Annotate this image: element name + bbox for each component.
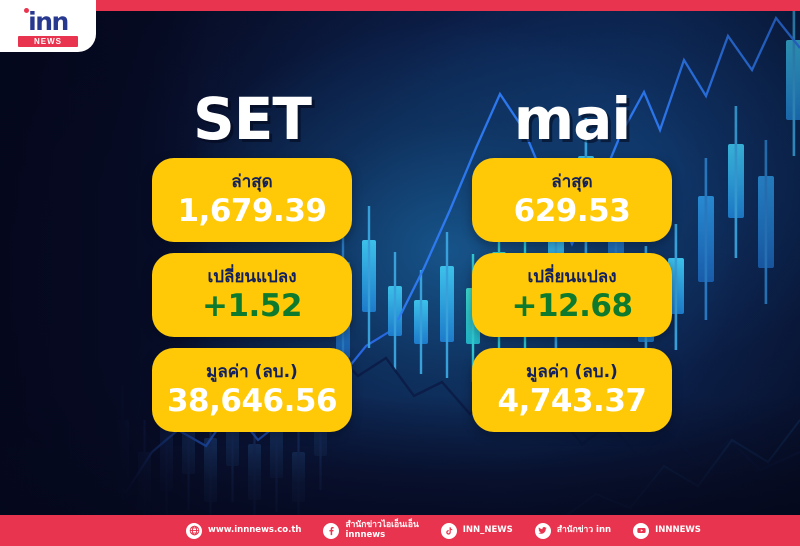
tiktok-icon bbox=[441, 523, 457, 539]
logo-news-badge: NEWS bbox=[18, 36, 78, 47]
index-title-set: SET bbox=[146, 88, 358, 150]
facebook-icon bbox=[323, 523, 339, 539]
footer-item-label-line2: innnews bbox=[345, 531, 418, 541]
footer-item-twitter[interactable]: สำนักข่าว inn bbox=[535, 523, 611, 539]
index-column-mai: mai ล่าสุด 629.53 เปลี่ยนแปลง +12.68 มูล… bbox=[466, 88, 678, 443]
card-label: เปลี่ยนแปลง bbox=[527, 266, 616, 288]
card-value: 4,743.37 bbox=[498, 383, 647, 419]
card-label: เปลี่ยนแปลง bbox=[207, 266, 296, 288]
card-label: ล่าสุด bbox=[231, 171, 272, 193]
footer-item-label: INNNEWS bbox=[655, 526, 701, 536]
inn-news-logo: inn NEWS bbox=[0, 0, 96, 52]
card-mai-last: ล่าสุด 629.53 bbox=[472, 158, 672, 242]
youtube-icon bbox=[633, 523, 649, 539]
background-vignette bbox=[0, 0, 800, 546]
card-value: 629.53 bbox=[514, 193, 631, 229]
card-value: +1.52 bbox=[202, 288, 302, 324]
top-red-bar bbox=[0, 0, 800, 11]
globe-icon bbox=[186, 523, 202, 539]
card-value: 1,679.39 bbox=[178, 193, 327, 229]
footer-social-bar: www.innnews.co.th สำนักข่าวไอเอ็นเอ็น in… bbox=[0, 515, 800, 546]
index-column-set: SET ล่าสุด 1,679.39 เปลี่ยนแปลง +1.52 มู… bbox=[146, 88, 358, 443]
footer-item-label-line1: สำนักข่าวไอเอ็นเอ็น bbox=[345, 520, 418, 530]
card-value: 38,646.56 bbox=[167, 383, 337, 419]
footer-item-youtube[interactable]: INNNEWS bbox=[633, 523, 701, 539]
card-mai-change: เปลี่ยนแปลง +12.68 bbox=[472, 253, 672, 337]
card-value: +12.68 bbox=[511, 288, 632, 324]
card-label: มูลค่า (ลบ.) bbox=[206, 361, 298, 383]
card-set-change: เปลี่ยนแปลง +1.52 bbox=[152, 253, 352, 337]
card-label: ล่าสุด bbox=[551, 171, 592, 193]
footer-item-label: สำนักข่าวไอเอ็นเอ็น innnews bbox=[345, 521, 418, 540]
logo-dot-icon bbox=[24, 8, 29, 13]
card-set-value: มูลค่า (ลบ.) 38,646.56 bbox=[152, 348, 352, 432]
logo-wordmark: inn bbox=[18, 10, 78, 34]
footer-item-tiktok[interactable]: INN_NEWS bbox=[441, 523, 513, 539]
footer-item-label: INN_NEWS bbox=[463, 526, 513, 536]
card-set-last: ล่าสุด 1,679.39 bbox=[152, 158, 352, 242]
card-mai-value: มูลค่า (ลบ.) 4,743.37 bbox=[472, 348, 672, 432]
twitter-icon bbox=[535, 523, 551, 539]
card-label: มูลค่า (ลบ.) bbox=[526, 361, 618, 383]
index-title-mai: mai bbox=[466, 88, 678, 150]
footer-item-label: www.innnews.co.th bbox=[208, 526, 301, 536]
footer-item-label: สำนักข่าว inn bbox=[557, 526, 611, 536]
footer-item-facebook[interactable]: สำนักข่าวไอเอ็นเอ็น innnews bbox=[323, 521, 418, 540]
stock-summary-graphic: inn NEWS SET ล่าสุด 1,679.39 เปลี่ยนแปลง… bbox=[0, 0, 800, 546]
footer-item-website[interactable]: www.innnews.co.th bbox=[186, 523, 301, 539]
